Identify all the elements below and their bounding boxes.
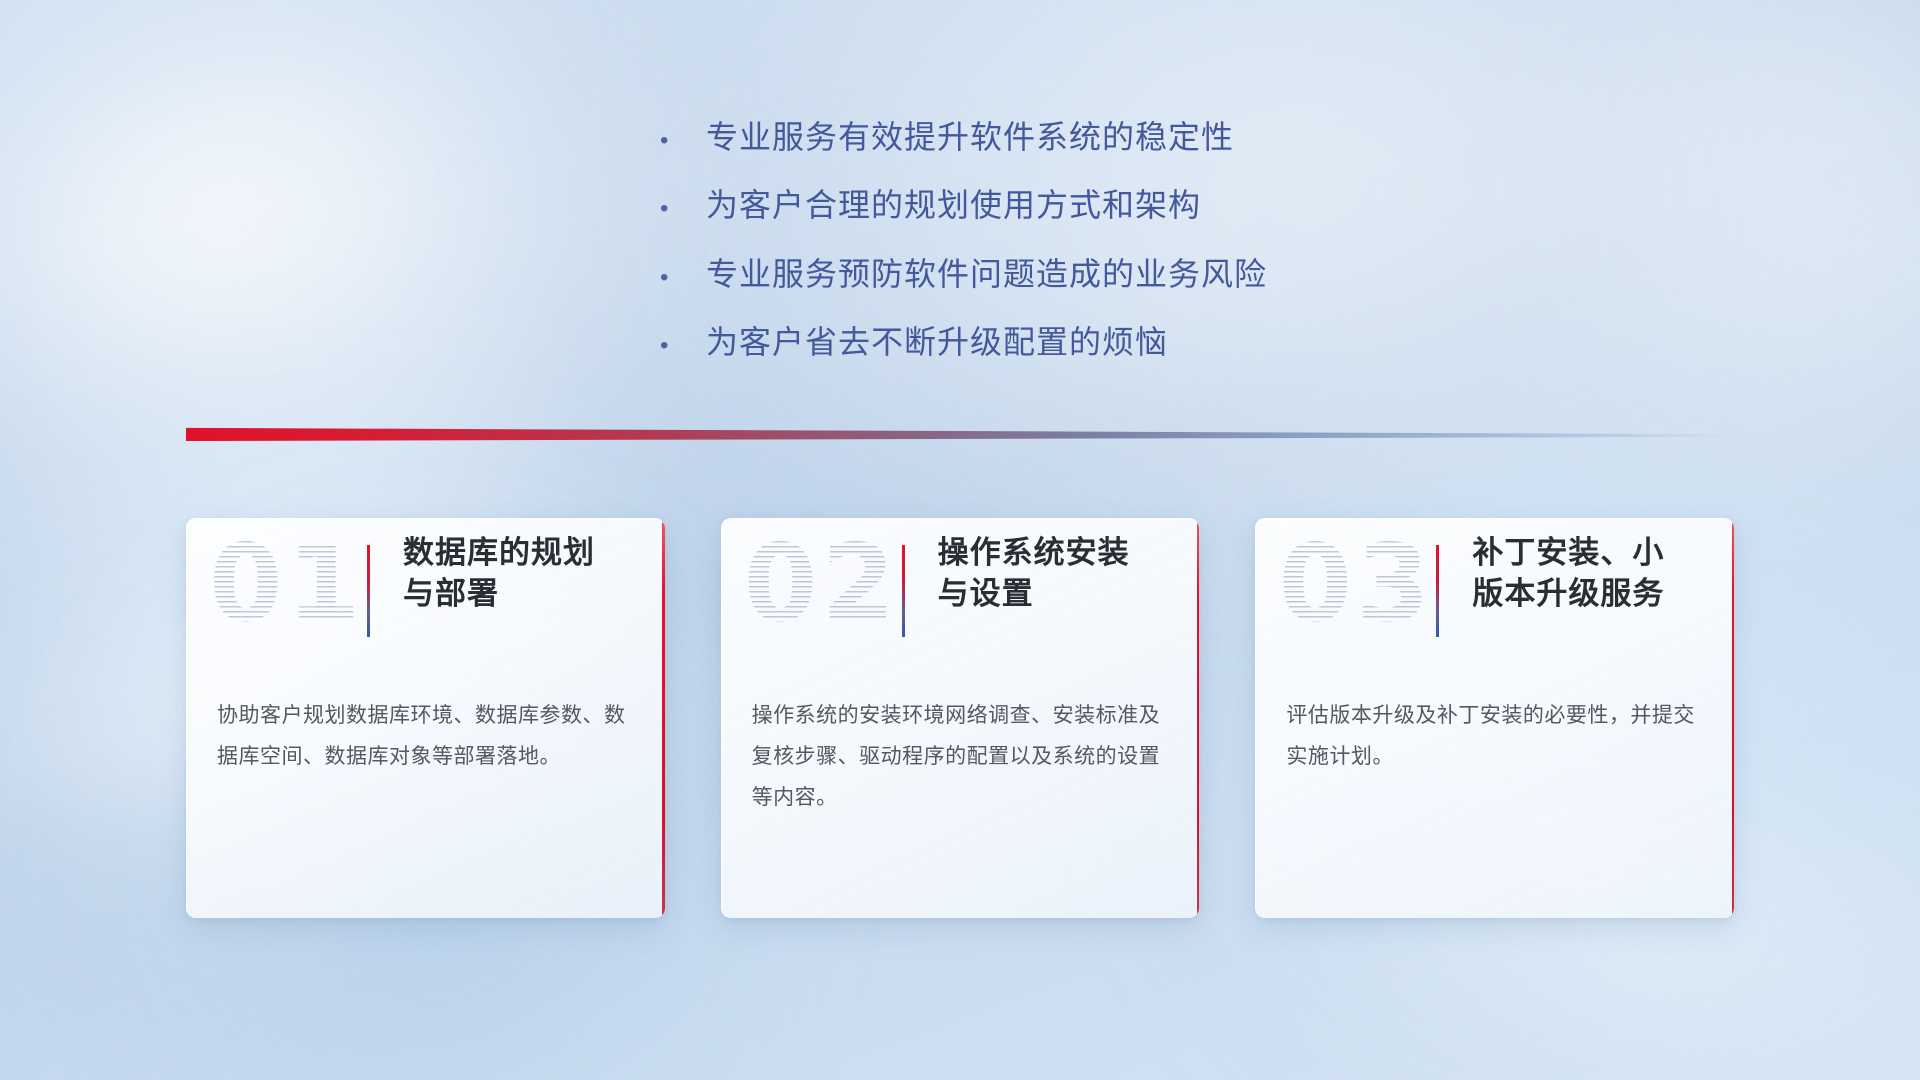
card-title: 数据库的规划 与部署 xyxy=(403,533,649,615)
bullet-text: 为客户合理的规划使用方式和架构 xyxy=(706,186,1201,224)
list-item: • 专业服务预防软件问题造成的业务风险 xyxy=(660,255,1420,293)
list-item: • 为客户合理的规划使用方式和架构 xyxy=(660,186,1420,224)
card-body-text: 操作系统的安装环境网络调查、安装标准及复核步骤、驱动程序的配置以及系统的设置等内… xyxy=(752,695,1176,818)
card-accent-bar xyxy=(902,545,905,637)
bullet-dot-icon: • xyxy=(660,197,706,221)
card-title-line2: 版本升级服务 xyxy=(1472,574,1718,615)
card-title-line2: 与设置 xyxy=(938,574,1184,615)
benefits-bullet-list: • 专业服务有效提升软件系统的稳定性 • 为客户合理的规划使用方式和架构 • 专… xyxy=(660,118,1420,362)
card-header: 01 数据库的规划 与部署 xyxy=(187,519,665,669)
card-title-line1: 操作系统安装 xyxy=(938,533,1184,574)
card-body-text: 评估版本升级及补丁安装的必要性，并提交实施计划。 xyxy=(1286,695,1710,777)
bullet-text: 专业服务预防软件问题造成的业务风险 xyxy=(706,255,1267,293)
list-item: • 为客户省去不断升级配置的烦恼 xyxy=(660,323,1420,361)
service-card-02[interactable]: 02 操作系统安装 与设置 操作系统的安装环境网络调查、安装标准及复核步骤、驱动… xyxy=(721,518,1200,918)
card-title-line2: 与部署 xyxy=(403,574,649,615)
bullet-text: 为客户省去不断升级配置的烦恼 xyxy=(706,323,1168,361)
card-header: 03 补丁安装、小 版本升级服务 xyxy=(1256,519,1734,669)
card-accent-bar xyxy=(1436,545,1439,637)
card-body-text: 协助客户规划数据库环境、数据库参数、数据库空间、数据库对象等部署落地。 xyxy=(217,695,641,777)
card-title-line1: 数据库的规划 xyxy=(403,533,649,574)
card-index-number: 02 xyxy=(744,531,900,637)
card-title: 操作系统安装 与设置 xyxy=(938,533,1184,615)
service-cards-row: 01 数据库的规划 与部署 协助客户规划数据库环境、数据库参数、数据库空间、数据… xyxy=(186,518,1734,918)
card-accent-bar xyxy=(367,545,370,637)
card-index-number: 03 xyxy=(1278,531,1434,637)
card-header: 02 操作系统安装 与设置 xyxy=(722,519,1200,669)
section-divider xyxy=(186,425,1736,441)
bullet-dot-icon: • xyxy=(660,129,706,153)
card-title-line1: 补丁安装、小 xyxy=(1472,533,1718,574)
bullet-dot-icon: • xyxy=(660,334,706,358)
card-index-number: 01 xyxy=(209,531,365,637)
card-title: 补丁安装、小 版本升级服务 xyxy=(1472,533,1718,615)
service-card-03[interactable]: 03 补丁安装、小 版本升级服务 评估版本升级及补丁安装的必要性，并提交实施计划… xyxy=(1255,518,1734,918)
bullet-dot-icon: • xyxy=(660,266,706,290)
divider-wedge-shape xyxy=(186,425,1736,441)
service-card-01[interactable]: 01 数据库的规划 与部署 协助客户规划数据库环境、数据库参数、数据库空间、数据… xyxy=(186,518,665,918)
bullet-text: 专业服务有效提升软件系统的稳定性 xyxy=(706,118,1234,156)
list-item: • 专业服务有效提升软件系统的稳定性 xyxy=(660,118,1420,156)
